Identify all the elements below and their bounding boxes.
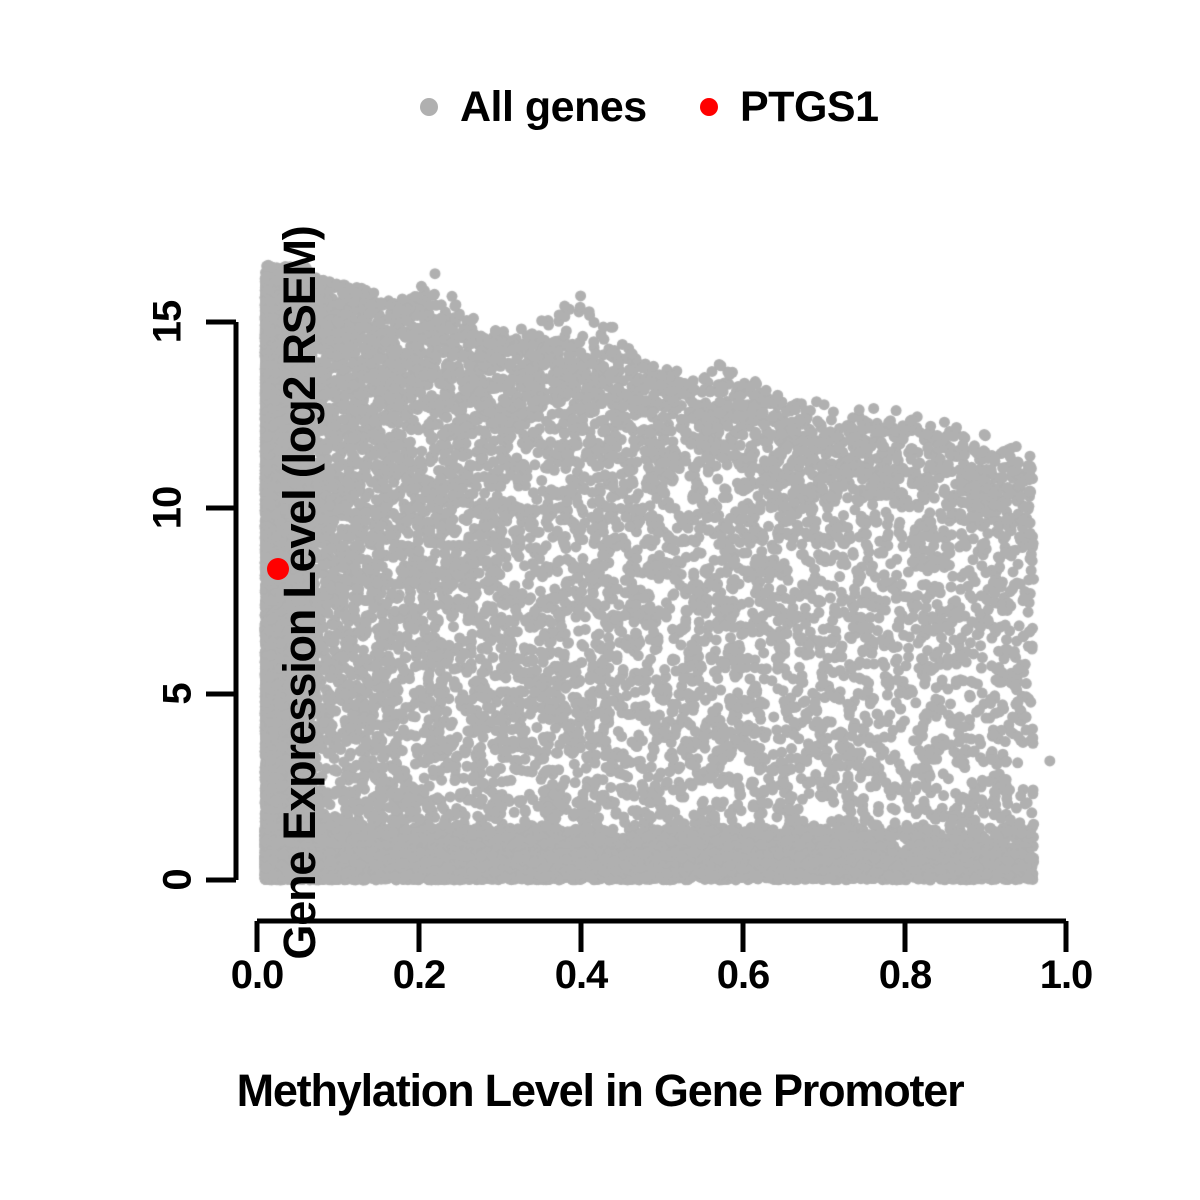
x-tick-label-2: 0.4 [555, 955, 608, 995]
x-tick-label-1: 0.2 [393, 955, 446, 995]
y-tick-label-5: 5 [157, 683, 197, 704]
y-tick-label-10: 10 [147, 487, 187, 530]
y-axis-title: Gene Expression Level (log2 RSEM) [274, 0, 326, 1193]
scatter-plot-figure: All genes PTGS1 0.0 0.2 [0, 0, 1200, 1200]
y-axis-title-wrapper: Gene Expression Level (log2 RSEM) [0, 567, 900, 633]
y-tick-label-0: 0 [157, 869, 197, 890]
x-tick-label-3: 0.6 [717, 955, 770, 995]
y-tick-label-15: 15 [147, 301, 187, 344]
x-tick-label-5: 1.0 [1040, 955, 1093, 995]
x-tick-label-4: 0.8 [879, 955, 932, 995]
x-axis-title: Methylation Level in Gene Promoter [0, 1065, 1200, 1117]
